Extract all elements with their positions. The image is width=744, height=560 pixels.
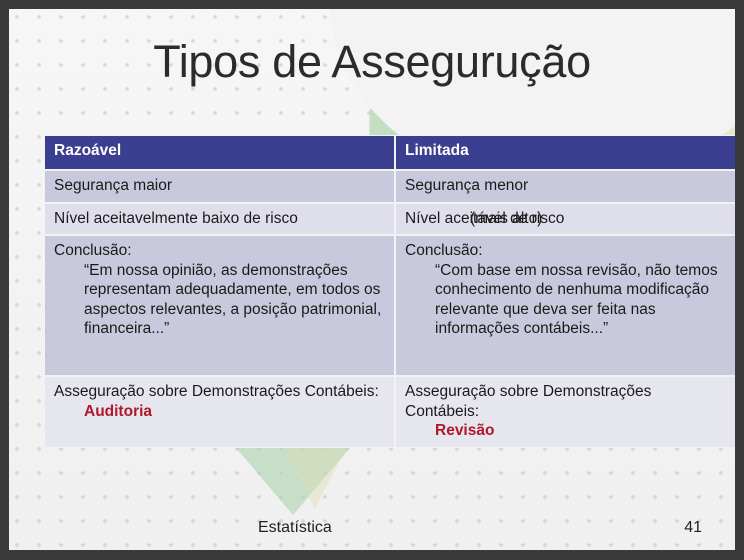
- footer-page-number: 41: [684, 519, 702, 537]
- cell-seguranca-menor: Segurança menor: [395, 170, 735, 203]
- conclusao-quote-limitada: “Com base em nossa revisão, não temos co…: [405, 261, 728, 339]
- footer-label: Estatística: [258, 519, 332, 537]
- table-row: Asseguração sobre Demonstrações Contábei…: [44, 376, 735, 448]
- cell-asseguracao-razoavel: Asseguração sobre Demonstrações Contábei…: [44, 376, 395, 448]
- slide: Tipos de Assegurução Razoável Limitada S…: [0, 0, 744, 560]
- cell-nivel-razoavel: Nível aceitavelmente baixo de risco: [44, 203, 395, 236]
- cell-seguranca-maior: Segurança maior: [44, 170, 395, 203]
- cell-conclusao-limitada: Conclusão: “Com base em nossa revisão, n…: [395, 235, 735, 376]
- slide-canvas: Tipos de Assegurução Razoável Limitada S…: [9, 9, 735, 550]
- asseguracao-label-razoavel: Asseguração sobre Demonstrações Contábei…: [54, 383, 379, 400]
- asseguracao-emphasis-revisao: Revisão: [405, 421, 728, 441]
- asseguracao-emphasis-auditoria: Auditoria: [54, 402, 386, 422]
- column-header-limitada: Limitada: [395, 135, 735, 170]
- table-row: Conclusão: “Em nossa opinião, as demonst…: [44, 235, 735, 376]
- table-header-row: Razoável Limitada: [44, 135, 735, 170]
- cell-nivel-limitada: Nível aceitável de risco (mais alto): [395, 203, 735, 236]
- conclusao-label-razoavel: Conclusão:: [54, 242, 132, 259]
- slide-frame-top: [0, 0, 744, 9]
- asseguracao-label-limitada: Asseguração sobre Demonstrações Contábei…: [405, 383, 651, 420]
- slide-frame-right: [735, 0, 744, 560]
- table-head: Razoável Limitada: [44, 135, 735, 170]
- slide-title: Tipos de Assegurução: [9, 35, 735, 89]
- table-row: Nível aceitavelmente baixo de risco Níve…: [44, 203, 735, 236]
- conclusao-label-limitada: Conclusão:: [405, 242, 483, 259]
- slide-frame-bottom: [0, 550, 744, 560]
- slide-frame-left: [0, 0, 9, 560]
- column-header-razoavel: Razoável: [44, 135, 395, 170]
- conclusao-quote-razoavel: “Em nossa opinião, as demonstrações repr…: [54, 261, 386, 339]
- assurance-types-table: Razoável Limitada Segurança maior Segura…: [44, 135, 735, 448]
- cell-asseguracao-limitada: Asseguração sobre Demonstrações Contábei…: [395, 376, 735, 448]
- table-body: Segurança maior Segurança menor Nível ac…: [44, 170, 735, 448]
- cell-nivel-limitada-overlap: (mais alto): [470, 209, 542, 229]
- cell-conclusao-razoavel: Conclusão: “Em nossa opinião, as demonst…: [44, 235, 395, 376]
- table-row: Segurança maior Segurança menor: [44, 170, 735, 203]
